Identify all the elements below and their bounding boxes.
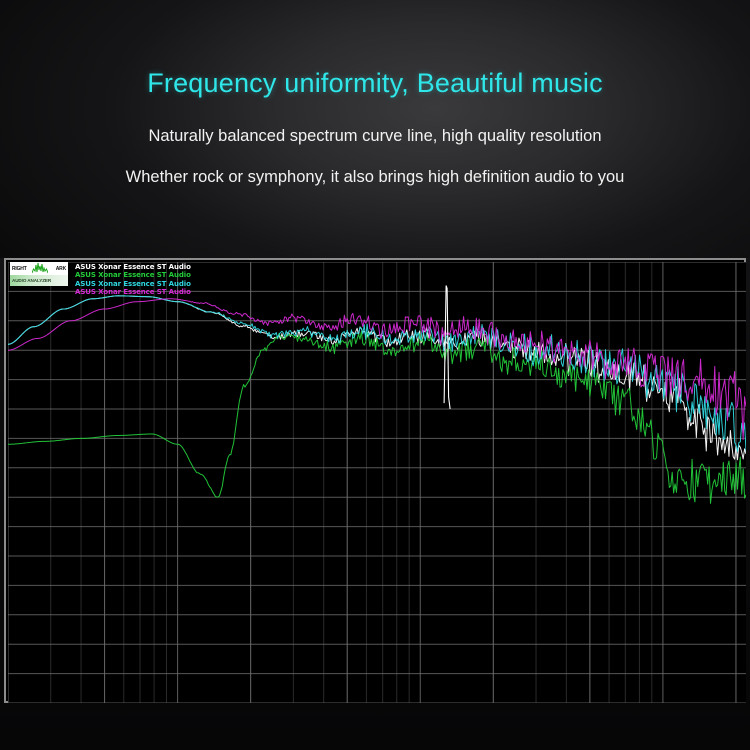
logo-word-left: RIGHT (12, 266, 27, 272)
banner-subtitle-1: Naturally balanced spectrum curve line, … (0, 127, 750, 146)
logo-tagline: AUDIO ANALYZER (10, 275, 68, 286)
legend-item-1: ASUS Xonar Essence ST Audio (75, 271, 191, 279)
legend-label-list: ASUS Xonar Essence ST AudioASUS Xonar Es… (75, 262, 191, 297)
legend-item-0: ASUS Xonar Essence ST Audio (75, 263, 191, 271)
waveform-icon (32, 262, 48, 275)
chart-canvas (8, 262, 746, 703)
rightmark-logo: RIGHT ARK AUDIO ANALYZER (10, 262, 68, 286)
banner-subtitle-2: Whether rock or symphony, it also brings… (0, 168, 750, 187)
promo-page: Frequency uniformity, Beautiful music Na… (0, 0, 750, 750)
legend-item-3: ASUS Xonar Essence ST Audio (75, 288, 191, 296)
chart-plot-area (8, 262, 746, 703)
spectrum-chart: RIGHT ARK AUDIO ANALYZER ASUS Xonar Esse… (4, 258, 746, 703)
logo-word-right: ARK (56, 266, 66, 272)
legend-item-2: ASUS Xonar Essence ST Audio (75, 280, 191, 288)
plot-background (8, 262, 746, 703)
chart-legend: RIGHT ARK AUDIO ANALYZER ASUS Xonar Esse… (10, 262, 191, 297)
page-title: Frequency uniformity, Beautiful music (0, 68, 750, 99)
chart-frame (4, 258, 746, 703)
